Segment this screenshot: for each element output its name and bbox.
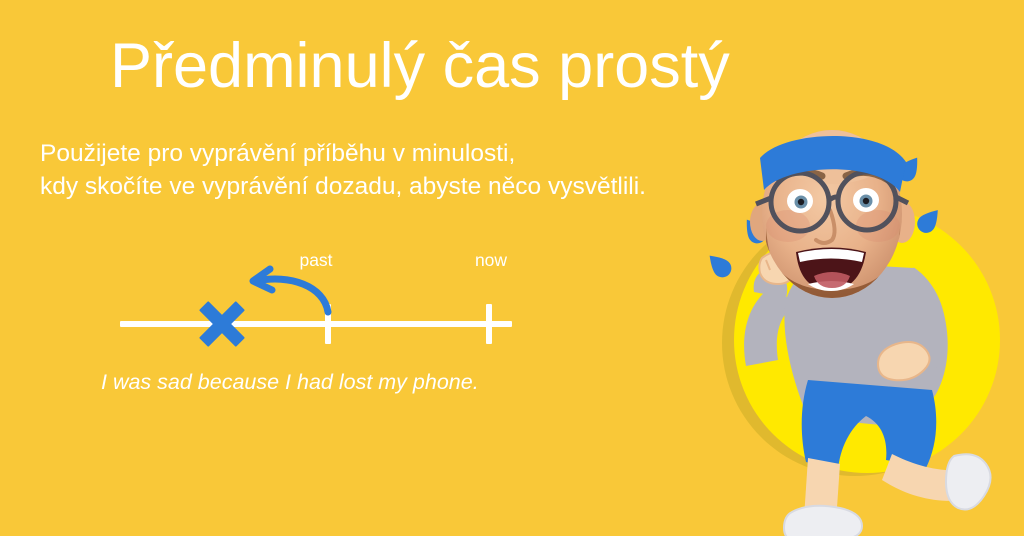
running-man-illustration bbox=[700, 118, 1024, 536]
description-text: Použijete pro vyprávění příběhu v minulo… bbox=[40, 137, 646, 203]
shoe-back bbox=[946, 454, 991, 509]
backwards-arrow-icon bbox=[110, 246, 530, 356]
character-graphic bbox=[700, 118, 1024, 536]
timeline-diagram: past now bbox=[110, 246, 530, 356]
description-line-1: Použijete pro vyprávění příběhu v minulo… bbox=[40, 137, 646, 170]
sweat-drop-icon bbox=[703, 249, 735, 281]
slide-canvas: Předminulý čas prostý Použijete pro vypr… bbox=[0, 0, 1024, 536]
description-line-2: kdy skočíte ve vyprávění dozadu, abyste … bbox=[40, 170, 646, 203]
shoe-front bbox=[784, 506, 862, 536]
page-title: Předminulý čas prostý bbox=[110, 33, 730, 99]
example-sentence: I was sad because I had lost my phone. bbox=[101, 370, 479, 395]
